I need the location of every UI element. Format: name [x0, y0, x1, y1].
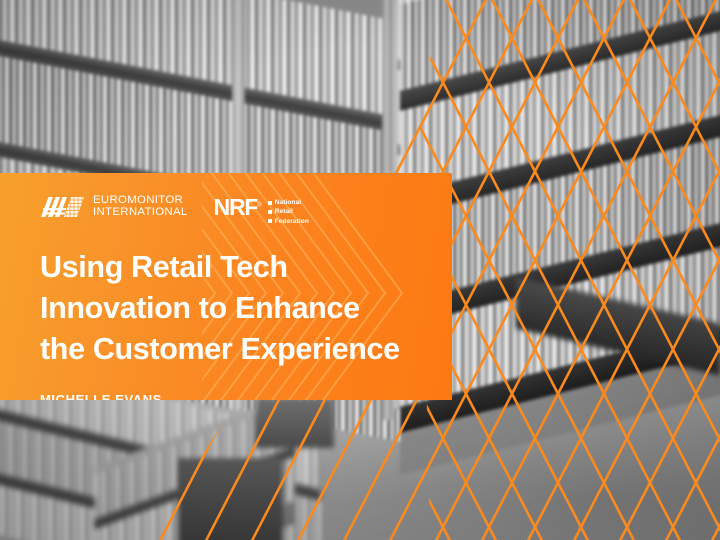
- presenter-name: MICHELLE EVANS: [40, 392, 452, 400]
- logo-row: EUROMONITOR INTERNATIONAL NRF® National …: [40, 195, 452, 225]
- nrf-bullet-icon: [268, 210, 272, 214]
- slide-title: Using Retail Tech Innovation to Enhance …: [40, 247, 452, 370]
- nrf-sub-line1: National: [275, 198, 301, 207]
- euromonitor-line1: EUROMONITOR: [93, 195, 188, 207]
- euromonitor-line2: INTERNATIONAL: [93, 207, 188, 219]
- nrf-bullet-icon: [268, 201, 272, 205]
- nrf-subtext: National Retail Federation: [268, 196, 309, 226]
- nrf-sub-line3: Federation: [275, 217, 309, 226]
- nrf-sub-line2: Retail: [275, 207, 293, 216]
- euromonitor-mark-icon: [40, 196, 86, 218]
- nrf-bullet-icon: [268, 219, 272, 223]
- nrf-wordmark-text: NRF: [214, 194, 258, 220]
- nrf-wordmark: NRF®: [214, 196, 262, 219]
- nrf-logo: NRF® National Retail Federation: [214, 195, 309, 226]
- nrf-trademark-symbol: ®: [257, 202, 261, 208]
- title-panel: EUROMONITOR INTERNATIONAL NRF® National …: [0, 173, 452, 400]
- presentation-slide: EUROMONITOR INTERNATIONAL NRF® National …: [0, 0, 720, 540]
- euromonitor-logo: EUROMONITOR INTERNATIONAL: [40, 195, 188, 218]
